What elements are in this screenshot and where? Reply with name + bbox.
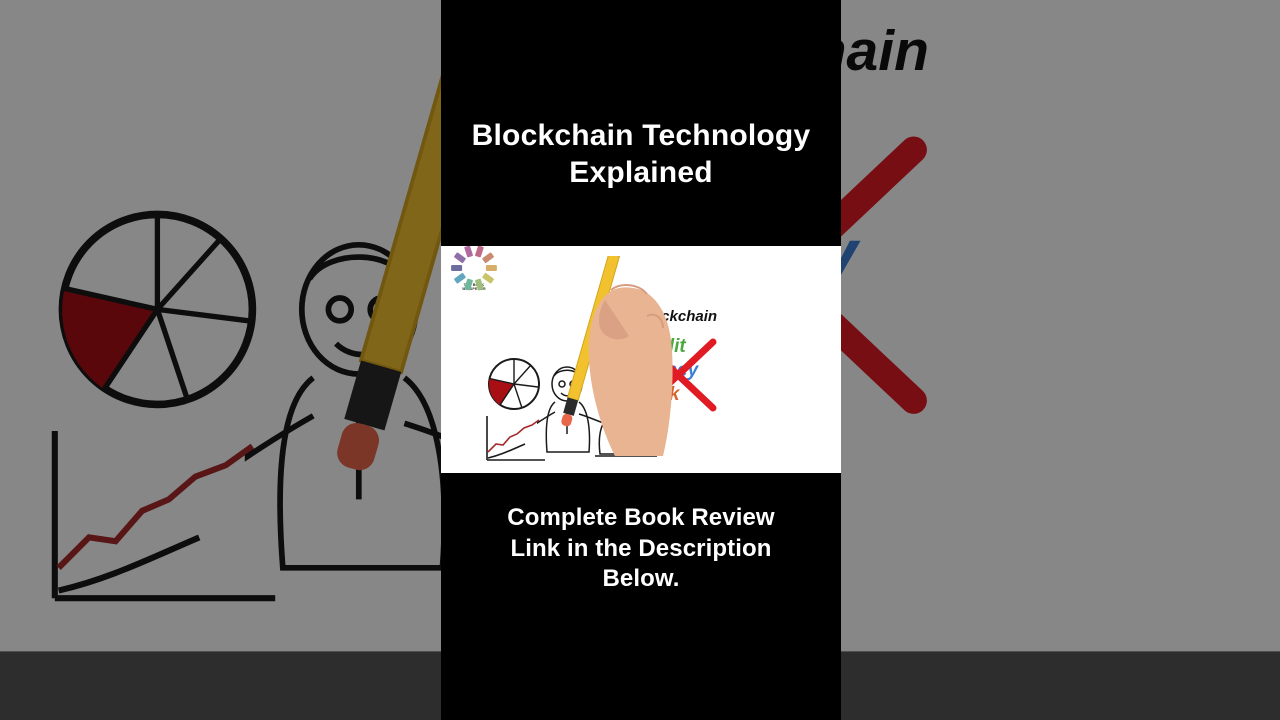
logo-wordmark: THE BOOK WHISPERER	[450, 284, 498, 292]
logo-book-3	[464, 246, 473, 258]
caption-line-2: Link in the Description	[441, 534, 841, 565]
logo-book-2	[454, 252, 466, 263]
logo-book-7	[482, 273, 494, 284]
logo-book-ring	[456, 253, 492, 283]
logo-book-4	[475, 246, 484, 258]
caption-line-3: Below.	[441, 564, 841, 595]
whiteboard-scene: THE BOOK WHISPERER Blockchain credit mon…	[441, 246, 841, 473]
video-title-overlay: Blockchain Technology Explained	[441, 118, 841, 191]
caption-line-1: Complete Book Review	[441, 503, 841, 534]
hand-with-pencil	[559, 256, 699, 471]
pie-chart-sketch	[51, 203, 264, 416]
logo-book-5	[482, 252, 494, 263]
logo-book-6	[486, 265, 497, 271]
title-line-1: Blockchain Technology	[441, 118, 841, 155]
video-player-stage: THE BOOK WHISPERER Blockchain credit mon…	[0, 0, 1280, 720]
pie-chart-sketch	[486, 356, 542, 412]
title-line-2: Explained	[441, 155, 841, 192]
logo-book-10	[454, 273, 466, 284]
video-frame[interactable]: THE BOOK WHISPERER Blockchain credit mon…	[441, 246, 841, 473]
video-caption-overlay: Complete Book Review Link in the Descrip…	[441, 503, 841, 595]
logo-book-1	[451, 265, 462, 271]
brand-logo: THE BOOK WHISPERER	[450, 253, 498, 292]
video-column[interactable]: Blockchain Technology Explained THE BOOK…	[441, 0, 841, 720]
